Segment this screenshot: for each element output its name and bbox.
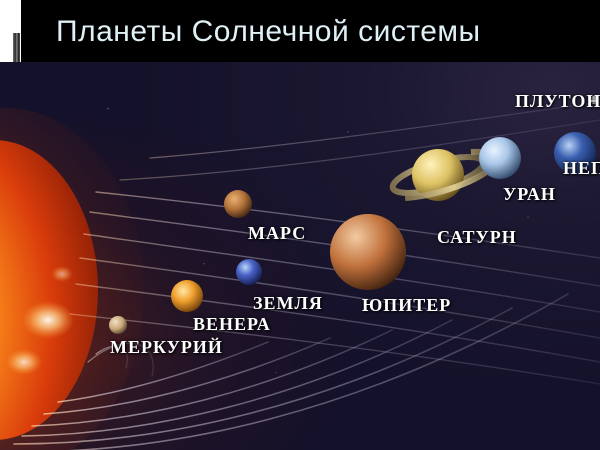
solar-system-illustration: МЕРКУРИЙ ВЕНЕРА ЗЕМЛЯ МАРС ЮПИТЕР САТУРН… bbox=[0, 62, 600, 450]
planet-jupiter bbox=[330, 214, 406, 290]
planet-venus bbox=[171, 280, 203, 312]
label-jupiter: ЮПИТЕР bbox=[362, 295, 451, 316]
label-venus: ВЕНЕРА bbox=[193, 314, 271, 335]
page-title: Планеты Солнечной системы bbox=[56, 15, 481, 49]
slide-title-bar: Планеты Солнечной системы bbox=[0, 0, 600, 62]
label-neptune: НЕПТ bbox=[563, 158, 600, 179]
title-left-marker-icon bbox=[13, 33, 20, 62]
planet-bodies bbox=[0, 62, 600, 450]
label-saturn: САТУРН bbox=[437, 227, 517, 248]
label-mercury: МЕРКУРИЙ bbox=[110, 337, 223, 358]
planet-mercury bbox=[109, 316, 127, 334]
label-uranus: УРАН bbox=[503, 184, 556, 205]
label-mars: МАРС bbox=[248, 223, 306, 244]
label-pluto: ПЛУТОН bbox=[515, 91, 600, 112]
presentation-slide: Планеты Солнечной системы bbox=[0, 0, 600, 450]
planet-earth bbox=[236, 259, 262, 285]
planet-mars bbox=[224, 190, 252, 218]
planet-uranus bbox=[479, 137, 521, 179]
label-earth: ЗЕМЛЯ bbox=[253, 293, 323, 314]
